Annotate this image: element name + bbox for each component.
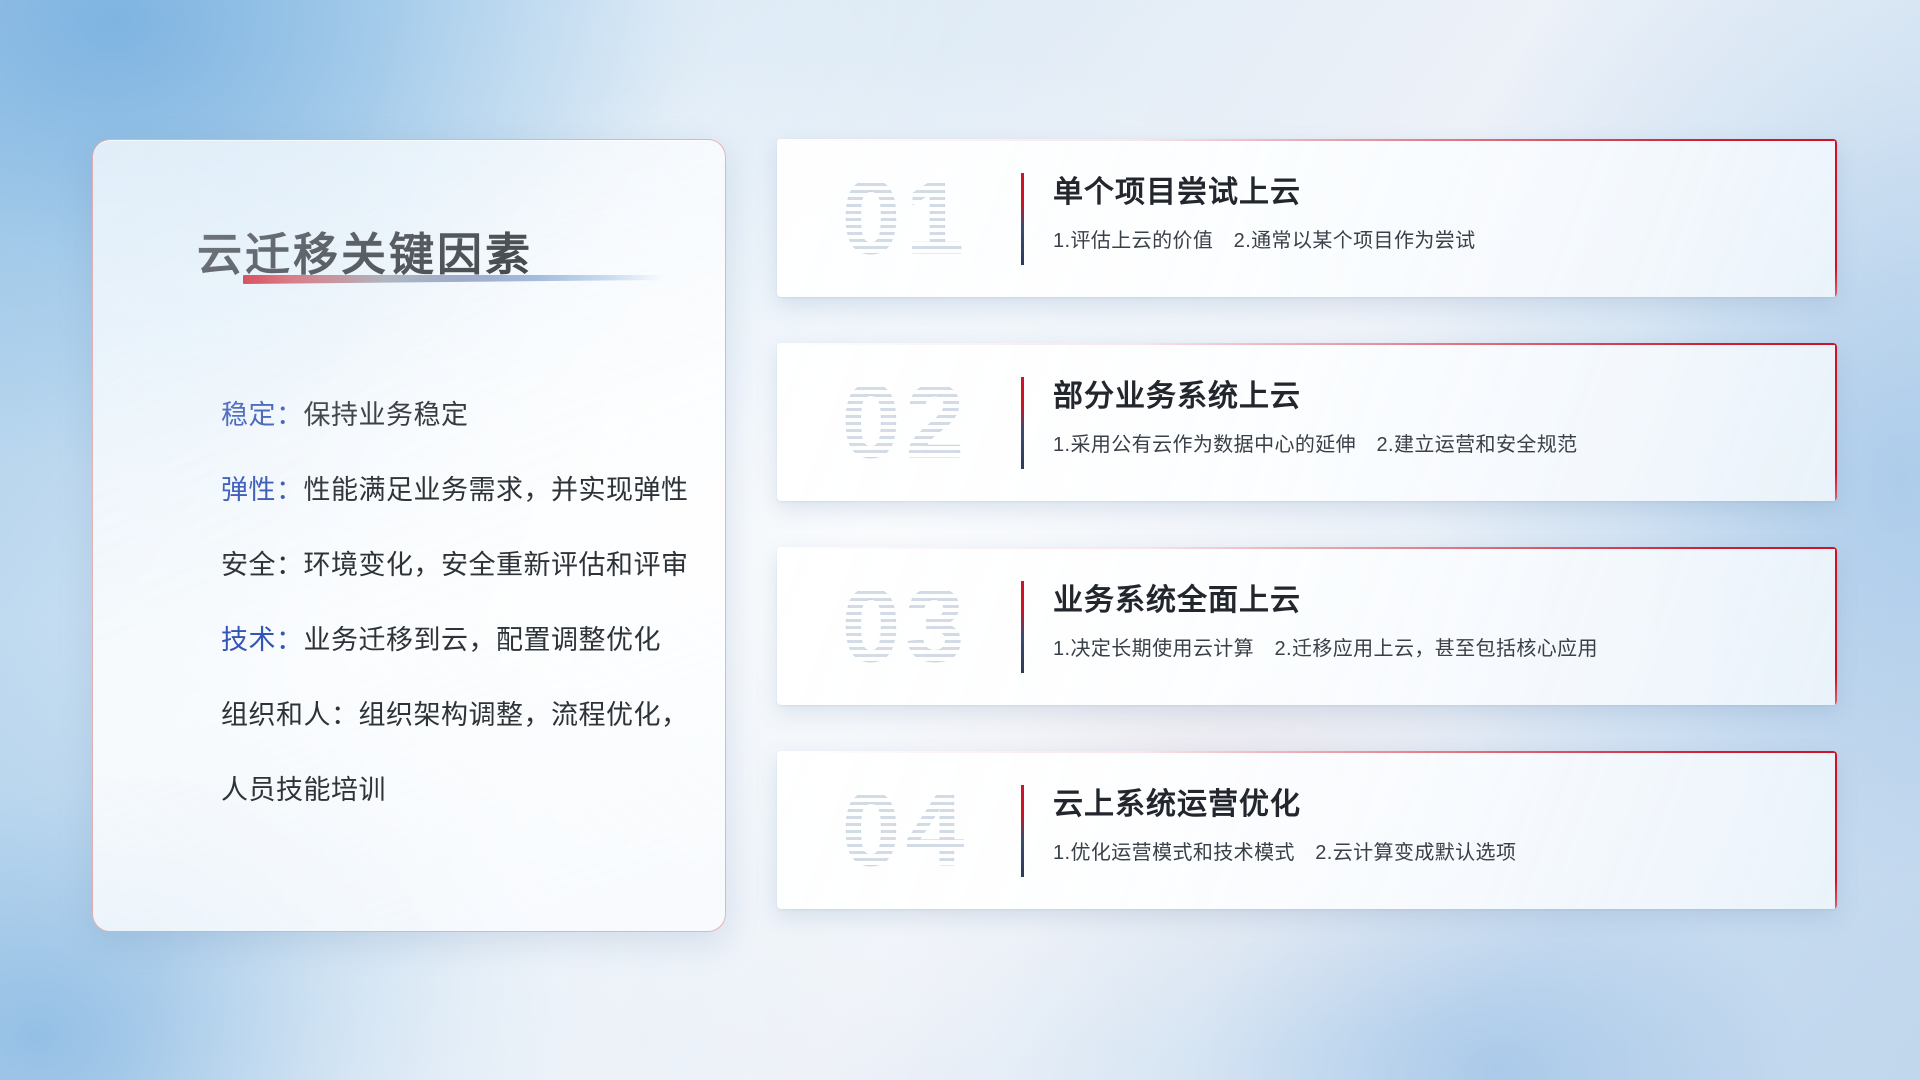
stage-card-body: 单个项目尝试上云1.评估上云的价值 2.通常以某个项目作为尝试 [1053,167,1797,253]
stage-card-title: 云上系统运营优化 [1053,779,1797,823]
stage-number: 01 [811,155,1001,281]
key-factor-text: 业务迁移到云，配置调整优化 [304,625,662,655]
stage-card-02[interactable]: 02部分业务系统上云1.采用公有云作为数据中心的延伸 2.建立运营和安全规范 [777,343,1837,501]
key-factor-label: 弹性： [221,475,304,505]
key-factor-label: 安全： [221,550,304,580]
key-factors-panel: 云迁移关键因素 稳定：保持业务稳定弹性：性能满足业务需求，并实现弹性安全：环境变… [92,139,726,932]
key-factor-text: 性能满足业务需求，并实现弹性 [304,475,689,505]
key-factor-row: 稳定：保持业务稳定 [221,378,691,453]
stage-card-description: 1.优化运营模式和技术模式 2.云计算变成默认选项 [1053,836,1797,865]
key-factor-text: 人员技能培训 [221,775,386,805]
stage-card-body: 业务系统全面上云1.决定长期使用云计算 2.迁移应用上云，甚至包括核心应用 [1053,575,1797,661]
stage-card-01[interactable]: 01单个项目尝试上云1.评估上云的价值 2.通常以某个项目作为尝试 [777,139,1837,297]
accent-divider-bar [1021,377,1024,469]
slide-stage: 云迁移关键因素 稳定：保持业务稳定弹性：性能满足业务需求，并实现弹性安全：环境变… [0,0,1920,1080]
stage-card-body: 云上系统运营优化1.优化运营模式和技术模式 2.云计算变成默认选项 [1053,779,1797,865]
key-factor-row: 弹性：性能满足业务需求，并实现弹性 [221,453,691,528]
stage-card-title: 部分业务系统上云 [1053,371,1797,415]
key-factor-text: 环境变化，安全重新评估和评审 [304,550,689,580]
stage-card-04[interactable]: 04云上系统运营优化1.优化运营模式和技术模式 2.云计算变成默认选项 [777,751,1837,909]
stage-card-title: 单个项目尝试上云 [1053,167,1797,211]
stage-number: 04 [811,767,1001,893]
stage-number: 02 [811,359,1001,485]
key-factor-label: 技术： [221,625,304,655]
accent-divider-bar [1021,581,1024,673]
stage-number: 03 [811,563,1001,689]
key-factor-row: 技术：业务迁移到云，配置调整优化 [221,603,691,678]
key-factor-row: 组织和人：组织架构调整，流程优化， [221,678,691,753]
accent-divider-bar [1021,785,1024,877]
key-factor-row: 安全：环境变化，安全重新评估和评审 [221,528,691,603]
stage-card-description: 1.评估上云的价值 2.通常以某个项目作为尝试 [1053,224,1797,253]
panel-title: 云迁移关键因素 [197,218,657,283]
stage-card-description: 1.采用公有云作为数据中心的延伸 2.建立运营和安全规范 [1053,428,1797,457]
cloud-migration-stage-cards: 01单个项目尝试上云1.评估上云的价值 2.通常以某个项目作为尝试02部分业务系… [777,139,1837,955]
stage-card-body: 部分业务系统上云1.采用公有云作为数据中心的延伸 2.建立运营和安全规范 [1053,371,1797,457]
stage-card-title: 业务系统全面上云 [1053,575,1797,619]
key-factor-label: 组织和人： [221,700,359,730]
key-factor-text: 组织架构调整，流程优化， [359,700,689,730]
stage-card-description: 1.决定长期使用云计算 2.迁移应用上云，甚至包括核心应用 [1053,632,1797,661]
accent-divider-bar [1021,173,1024,265]
key-factors-list: 稳定：保持业务稳定弹性：性能满足业务需求，并实现弹性安全：环境变化，安全重新评估… [221,378,691,828]
key-factor-text: 保持业务稳定 [304,400,469,430]
stage-card-03[interactable]: 03业务系统全面上云1.决定长期使用云计算 2.迁移应用上云，甚至包括核心应用 [777,547,1837,705]
key-factor-row: 人员技能培训 [221,753,691,828]
key-factor-label: 稳定： [221,400,304,430]
